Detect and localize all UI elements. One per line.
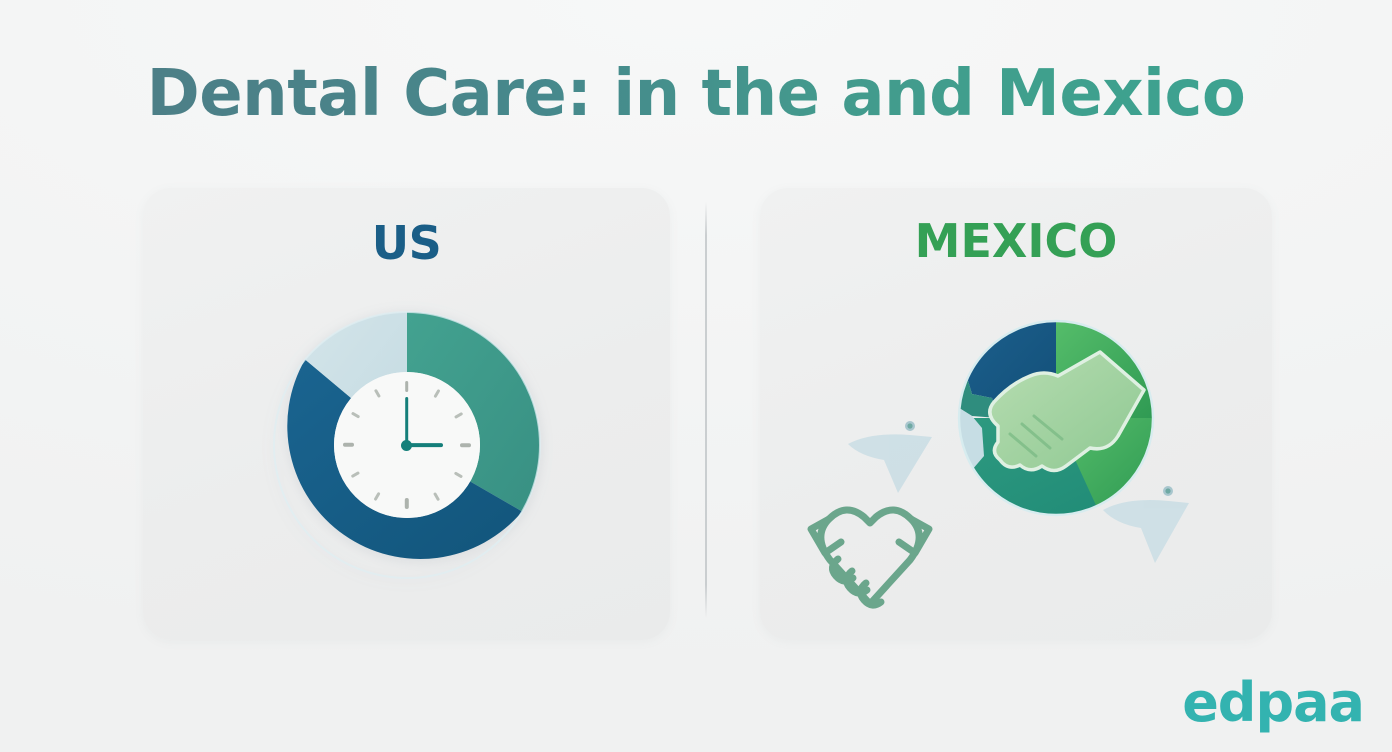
clock-tick-5 — [433, 492, 440, 501]
clock-tick-7 — [373, 492, 380, 501]
brand-logo[interactable]: edpaa — [1182, 676, 1364, 730]
panel-mexico: MEXICO — [760, 188, 1272, 640]
clock-tick-11 — [373, 389, 380, 398]
clock-tick-4 — [453, 471, 462, 478]
clock-minute-hand — [405, 397, 409, 445]
page-title-container: Dental Care: in the and Mexico — [0, 62, 1392, 126]
heart-handshake-icon — [811, 510, 929, 605]
clock-tick-8 — [350, 471, 359, 478]
panel-mexico-heading: MEXICO — [760, 214, 1272, 268]
panel-us-heading: US — [143, 216, 670, 270]
clock-tick-3 — [460, 443, 471, 447]
clock-tick-0 — [405, 381, 409, 392]
panel-divider — [705, 202, 707, 618]
panel-us: US — [143, 188, 670, 640]
clock-tick-1 — [433, 389, 440, 398]
clock-center-pivot — [401, 440, 412, 451]
us-donut-chart — [268, 306, 546, 584]
bird-leaf-right-icon — [1103, 486, 1189, 563]
clock-face — [334, 372, 480, 518]
mexico-illustration — [760, 278, 1272, 618]
bird-leaf-left-icon — [848, 421, 932, 493]
clock-tick-6 — [405, 498, 409, 509]
clock-tick-2 — [453, 412, 462, 419]
clock-tick-9 — [343, 443, 354, 447]
page-title: Dental Care: in the and Mexico — [147, 62, 1246, 126]
clock-tick-10 — [350, 412, 359, 419]
